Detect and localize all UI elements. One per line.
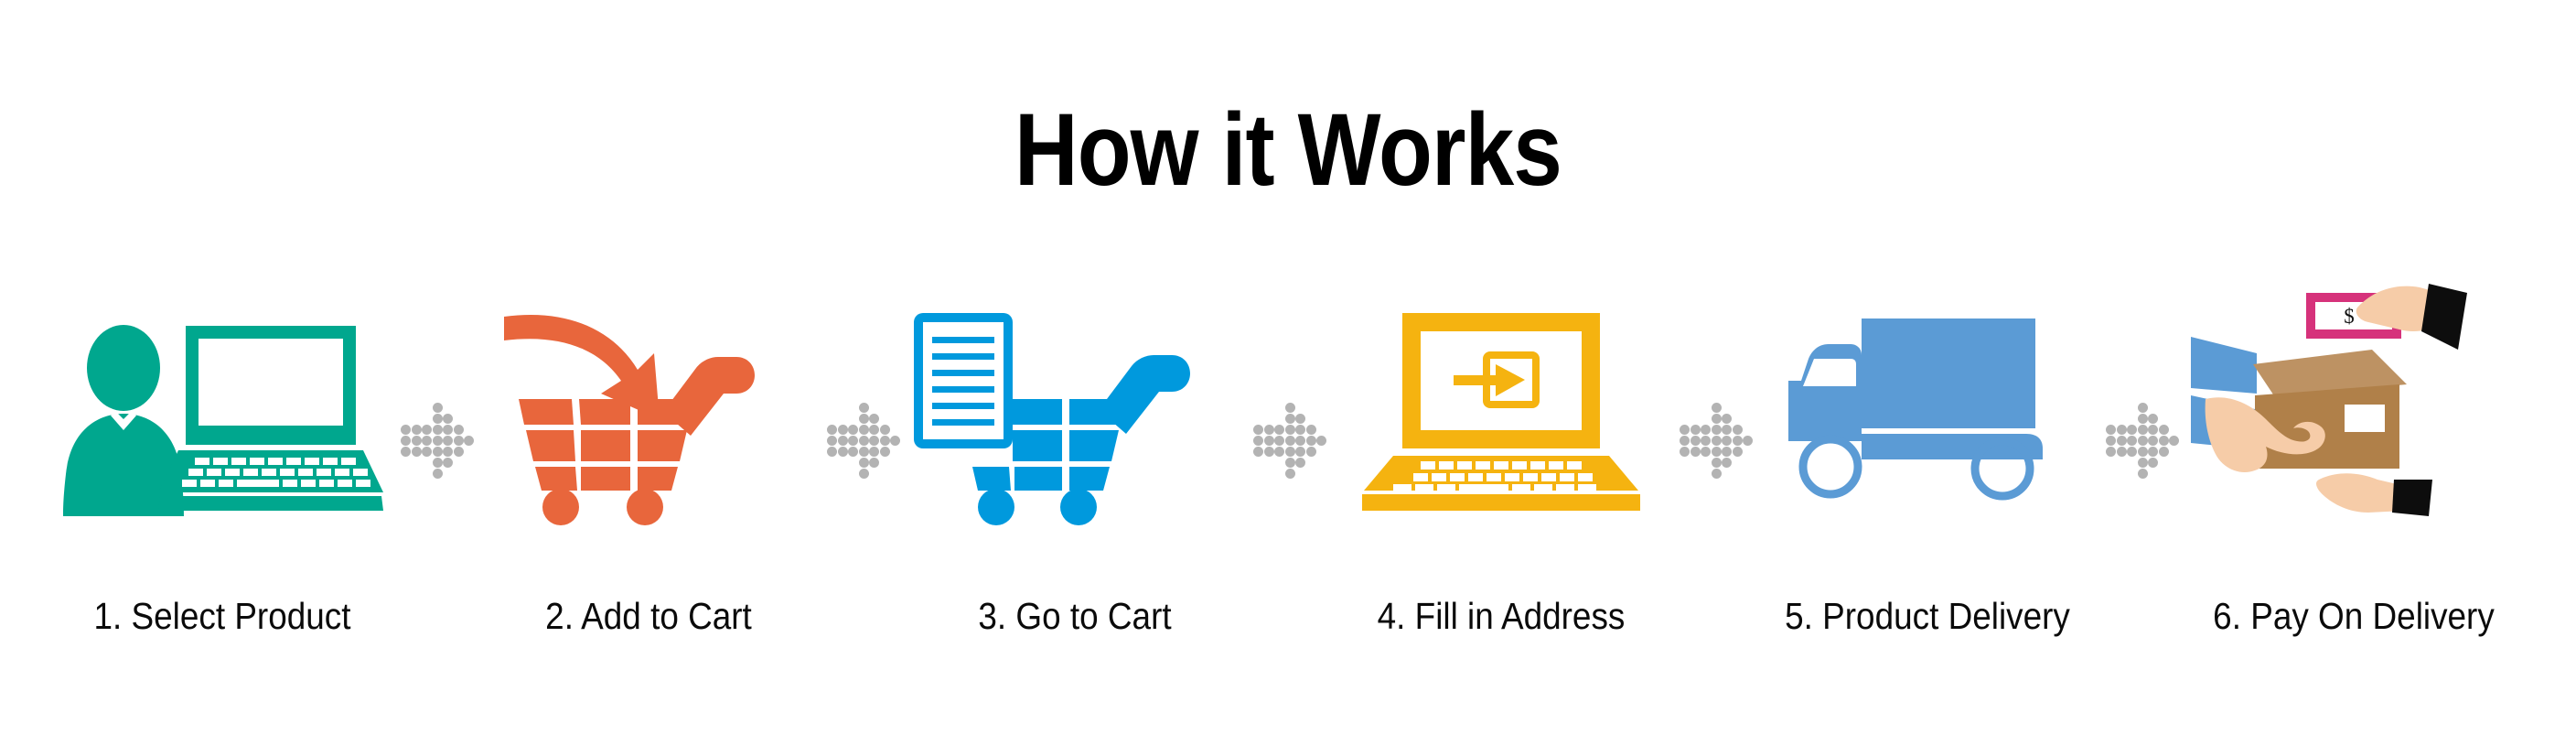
separator-dot <box>1701 447 1711 457</box>
separator-dot <box>412 447 422 457</box>
separator-dot <box>1722 425 1732 435</box>
separator-dot <box>433 469 443 479</box>
separator-dot <box>1733 447 1743 457</box>
how-it-works-infographic: How it Works <box>0 0 2576 745</box>
separator-dot <box>848 436 858 446</box>
page-title: How it Works <box>180 99 2396 201</box>
separator-dot <box>1712 403 1722 413</box>
step-5-product-delivery[interactable]: 5. Product Delivery <box>1755 302 2100 668</box>
separator-dot <box>2117 447 2127 457</box>
separator-dot <box>869 436 879 446</box>
delivery-truck-icon <box>1763 302 2092 522</box>
separator-3 <box>1248 302 1328 668</box>
separator-dot <box>2148 414 2158 424</box>
separator-dot <box>1316 436 1326 446</box>
separator-dot <box>433 414 443 424</box>
separator-dot <box>1743 436 1753 446</box>
separator-dot <box>2148 447 2158 457</box>
separator-dot <box>464 436 474 446</box>
separator-dot <box>827 447 837 457</box>
separator-dot <box>1712 469 1722 479</box>
separator-dot <box>1264 425 1274 435</box>
separator-dot <box>1295 414 1305 424</box>
separator-dot <box>1264 436 1274 446</box>
separator-dot <box>848 447 858 457</box>
separator-dot <box>1680 436 1690 446</box>
separator-dot <box>1253 436 1263 446</box>
separator-dot <box>2138 414 2148 424</box>
separator-dot <box>1295 436 1305 446</box>
separator-dot <box>2138 469 2148 479</box>
separator-dot <box>2169 436 2179 446</box>
laptop-form-entry-icon <box>1336 302 1666 522</box>
dotted-arrow-right-icon <box>401 403 470 480</box>
dotted-arrow-right-icon <box>2106 403 2175 480</box>
separator-dot <box>1722 447 1732 457</box>
step-3-label: 3. Go to Cart <box>919 598 1230 635</box>
separator-dot <box>1680 447 1690 457</box>
separator-dot <box>2148 458 2158 468</box>
separator-dot <box>1701 436 1711 446</box>
separator-dot <box>1274 436 1284 446</box>
separator-dot <box>454 447 464 457</box>
separator-dot <box>422 436 432 446</box>
separator-dot <box>1712 436 1722 446</box>
separator-dot <box>1712 425 1722 435</box>
separator-dot <box>1306 447 1316 457</box>
separator-dot <box>443 425 453 435</box>
separator-dot <box>401 447 411 457</box>
step-1-select-product[interactable]: 1. Select Product <box>49 302 395 668</box>
separator-dot <box>2138 425 2148 435</box>
separator-dot <box>2159 436 2169 446</box>
step-6-icon-box: $ <box>2189 302 2518 522</box>
separator-dot <box>869 414 879 424</box>
separator-dot <box>1690 425 1701 435</box>
cart-with-arrow-icon <box>484 302 813 522</box>
separator-dot <box>859 425 869 435</box>
separator-dot <box>869 425 879 435</box>
separator-dot <box>1306 436 1316 446</box>
separator-dot <box>2127 447 2137 457</box>
separator-dot <box>2117 425 2127 435</box>
separator-dot <box>2117 436 2127 446</box>
separator-dot <box>2159 425 2169 435</box>
separator-dot <box>827 436 837 446</box>
separator-dot <box>1253 425 1263 435</box>
step-2-add-to-cart[interactable]: 2. Add to Cart <box>476 302 821 668</box>
step-3-go-to-cart[interactable]: 3. Go to Cart <box>902 302 1248 668</box>
separator-dot <box>880 436 890 446</box>
step-6-pay-on-delivery[interactable]: $ <box>2181 302 2527 668</box>
list-and-cart-icon <box>910 302 1240 522</box>
dotted-arrow-right-icon <box>1680 403 1749 480</box>
banknote-dollar-symbol: $ <box>2344 305 2355 328</box>
separator-dot <box>1690 447 1701 457</box>
separator-dot <box>412 425 422 435</box>
separator-dot <box>2138 436 2148 446</box>
separator-dot <box>1295 447 1305 457</box>
separator-dot <box>401 436 411 446</box>
separator-dot <box>869 458 879 468</box>
step-1-label: 1. Select Product <box>67 598 378 635</box>
separator-dot <box>848 425 858 435</box>
separator-dot <box>1712 414 1722 424</box>
separator-dot <box>1722 414 1732 424</box>
separator-dot <box>827 425 837 435</box>
separator-dot <box>422 447 432 457</box>
separator-dot <box>838 425 848 435</box>
separator-1 <box>395 302 476 668</box>
separator-dot <box>1733 425 1743 435</box>
separator-dot <box>433 425 443 435</box>
separator-dot <box>1690 436 1701 446</box>
separator-dot <box>1285 469 1295 479</box>
separator-dot <box>2127 425 2137 435</box>
separator-dot <box>1712 447 1722 457</box>
separator-dot <box>2148 436 2158 446</box>
separator-dot <box>1285 436 1295 446</box>
separator-dot <box>2148 425 2158 435</box>
separator-dot <box>1722 458 1732 468</box>
separator-dot <box>1285 447 1295 457</box>
separator-dot <box>890 436 900 446</box>
separator-dot <box>433 436 443 446</box>
separator-dot <box>859 403 869 413</box>
separator-dot <box>1295 425 1305 435</box>
separator-dot <box>412 436 422 446</box>
separator-dot <box>2127 436 2137 446</box>
steps-row: 1. Select Product <box>0 302 2576 668</box>
separator-dot <box>1680 425 1690 435</box>
separator-dot <box>859 447 869 457</box>
separator-dot <box>433 447 443 457</box>
separator-dot <box>2106 425 2116 435</box>
step-5-label: 5. Product Delivery <box>1772 598 2083 635</box>
separator-dot <box>859 458 869 468</box>
separator-dot <box>880 425 890 435</box>
separator-dot <box>1712 458 1722 468</box>
separator-dot <box>1701 425 1711 435</box>
separator-dot <box>2138 458 2148 468</box>
step-2-label: 2. Add to Cart <box>493 598 804 635</box>
separator-dot <box>2138 403 2148 413</box>
separator-dot <box>422 425 432 435</box>
separator-dot <box>1285 425 1295 435</box>
separator-dot <box>2159 447 2169 457</box>
step-4-fill-in-address[interactable]: 4. Fill in Address <box>1328 302 1674 668</box>
separator-dot <box>1274 447 1284 457</box>
separator-dot <box>443 447 453 457</box>
separator-dot <box>859 414 869 424</box>
step-4-icon-box <box>1336 302 1666 522</box>
separator-dot <box>454 436 464 446</box>
separator-dot <box>869 447 879 457</box>
separator-dot <box>443 414 453 424</box>
separator-dot <box>1285 414 1295 424</box>
step-2-icon-box <box>484 302 813 522</box>
step-3-icon-box <box>910 302 1240 522</box>
person-at-laptop-icon <box>58 302 387 522</box>
separator-dot <box>1722 436 1732 446</box>
separator-dot <box>1285 403 1295 413</box>
separator-dot <box>443 458 453 468</box>
separator-dot <box>2106 447 2116 457</box>
separator-dot <box>401 425 411 435</box>
dotted-arrow-right-icon <box>827 403 896 480</box>
separator-dot <box>2106 436 2116 446</box>
cash-on-delivery-icon: $ <box>2189 293 2518 522</box>
separator-dot <box>1306 425 1316 435</box>
step-6-label: 6. Pay On Delivery <box>2198 598 2509 635</box>
step-5-icon-box <box>1763 302 2092 522</box>
separator-4 <box>1674 302 1755 668</box>
step-4-label: 4. Fill in Address <box>1346 598 1657 635</box>
separator-dot <box>1253 447 1263 457</box>
separator-2 <box>821 302 902 668</box>
separator-dot <box>454 425 464 435</box>
separator-dot <box>1274 425 1284 435</box>
separator-5 <box>2100 302 2181 668</box>
separator-dot <box>443 436 453 446</box>
separator-dot <box>1295 458 1305 468</box>
separator-dot <box>433 403 443 413</box>
separator-dot <box>838 436 848 446</box>
separator-dot <box>433 458 443 468</box>
separator-dot <box>838 447 848 457</box>
separator-dot <box>1285 458 1295 468</box>
step-1-icon-box <box>58 302 387 522</box>
separator-dot <box>880 447 890 457</box>
separator-dot <box>1264 447 1274 457</box>
separator-dot <box>859 469 869 479</box>
separator-dot <box>1733 436 1743 446</box>
separator-dot <box>859 436 869 446</box>
dotted-arrow-right-icon <box>1253 403 1323 480</box>
separator-dot <box>2138 447 2148 457</box>
